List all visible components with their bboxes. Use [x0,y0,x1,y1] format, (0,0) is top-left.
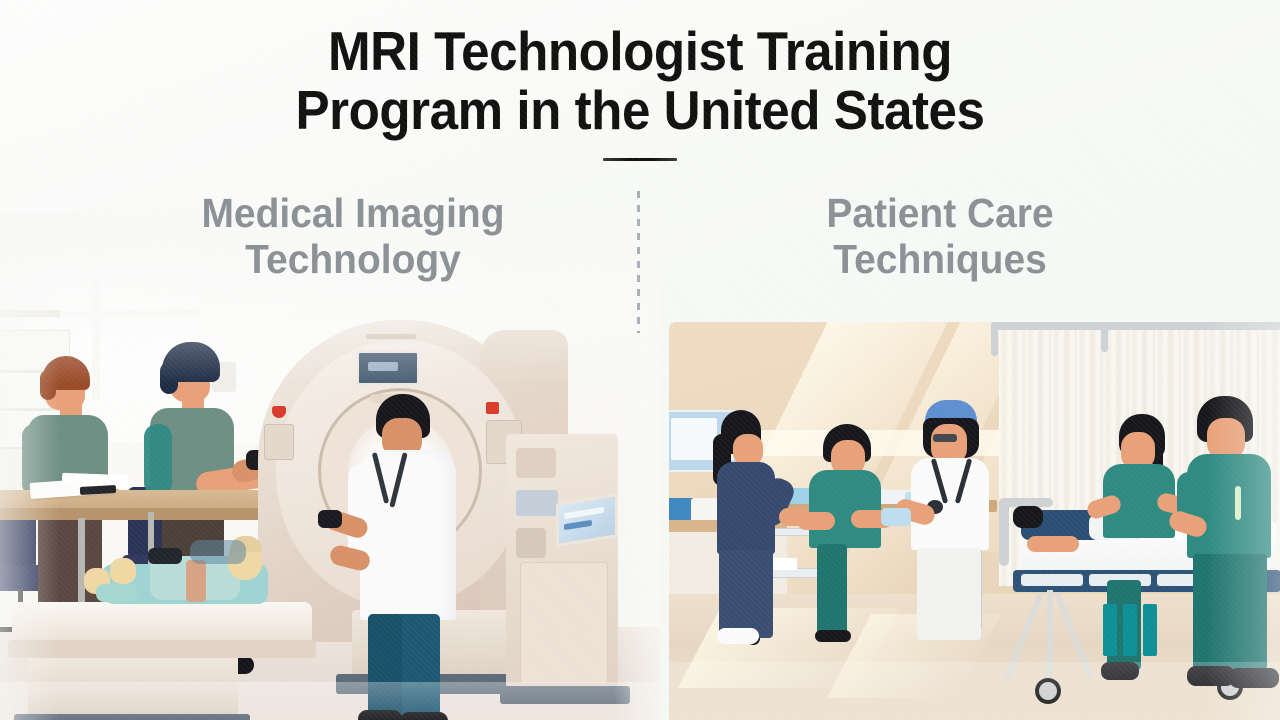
title-line-2: Program in the United States [45,81,1235,140]
mri-suite-illustration [0,212,660,720]
column-heading-left-line-1: Medical Imaging [130,190,577,236]
column-heading-right-line-1: Patient Care [779,190,1102,236]
column-heading-left: Medical Imaging Technology [130,190,577,283]
title-line-1: MRI Technologist Training [45,22,1235,81]
title-block: MRI Technologist Training Program in the… [0,22,1280,161]
page-title: MRI Technologist Training Program in the… [45,22,1235,140]
patient-care-illustration [669,322,1280,720]
vertical-dashed-divider [637,191,640,333]
slide-canvas: MRI Technologist Training Program in the… [0,0,1280,720]
column-heading-right: Patient Care Techniques [779,190,1102,283]
column-heading-left-line-2: Technology [130,236,577,282]
column-heading-right-line-2: Techniques [779,236,1102,282]
title-underline-rule [603,158,677,161]
